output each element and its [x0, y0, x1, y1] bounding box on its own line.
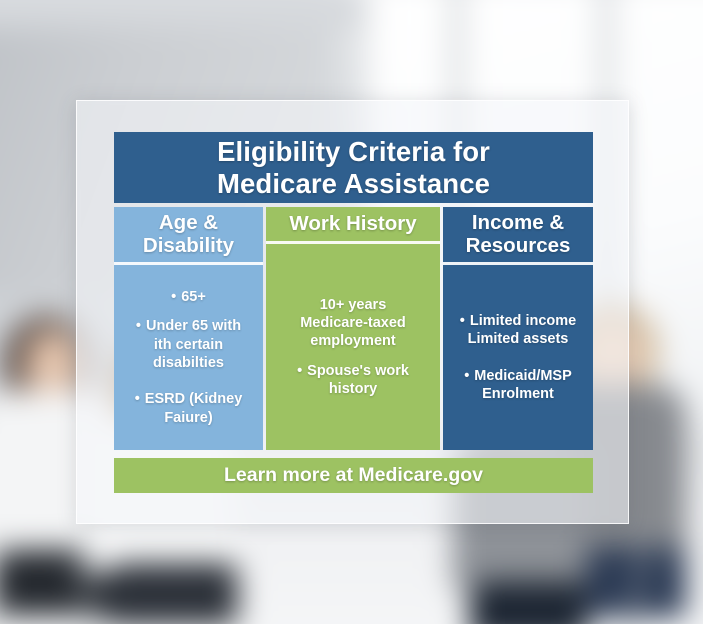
list-item: 10+ years Medicare-taxed employment: [274, 296, 432, 351]
footer-cta-label: Learn more at Medicare.gov: [224, 464, 483, 487]
criteria-columns: Age & Disability 65+ Under 65 with ith c…: [114, 207, 593, 450]
criteria-list-income-resources: Limited income Limited assets Medicaid/M…: [451, 312, 585, 403]
column-income-resources: Income & Resources Limited income Limite…: [443, 207, 593, 450]
screenshot-stage: Eligibility Criteria for Medicare Assist…: [0, 0, 703, 624]
column-body-income-resources: Limited income Limited assets Medicaid/M…: [443, 265, 593, 450]
criteria-list-age-disability: 65+ Under 65 with ith certain disabiltie…: [122, 288, 255, 427]
footer-cta-bar[interactable]: Learn more at Medicare.gov: [114, 458, 593, 493]
column-body-age-disability: 65+ Under 65 with ith certain disabiltie…: [114, 265, 263, 450]
column-heading-work-history: Work History: [266, 207, 440, 244]
list-item: Medicaid/MSP Enrolment: [451, 367, 585, 404]
glass-card: Eligibility Criteria for Medicare Assist…: [76, 100, 629, 524]
infographic: Eligibility Criteria for Medicare Assist…: [114, 132, 593, 493]
list-item: Under 65 with ith certain disabilties: [122, 317, 255, 372]
criteria-list-work-history: 10+ years Medicare-taxed employment Spou…: [274, 296, 432, 398]
list-item: ESRD (Kidney Faiure): [122, 390, 255, 427]
column-work-history: Work History 10+ years Medicare-taxed em…: [266, 207, 440, 450]
column-age-disability: Age & Disability 65+ Under 65 with ith c…: [114, 207, 263, 450]
column-heading-age-disability: Age & Disability: [114, 207, 263, 265]
list-item: Spouse's work history: [274, 362, 432, 399]
title-banner: Eligibility Criteria for Medicare Assist…: [114, 132, 593, 203]
column-body-work-history: 10+ years Medicare-taxed employment Spou…: [266, 244, 440, 450]
list-item: 65+: [122, 288, 255, 306]
page-title: Eligibility Criteria for Medicare Assist…: [207, 136, 500, 198]
column-heading-income-resources: Income & Resources: [443, 207, 593, 265]
list-item: Limited income Limited assets: [451, 312, 585, 349]
